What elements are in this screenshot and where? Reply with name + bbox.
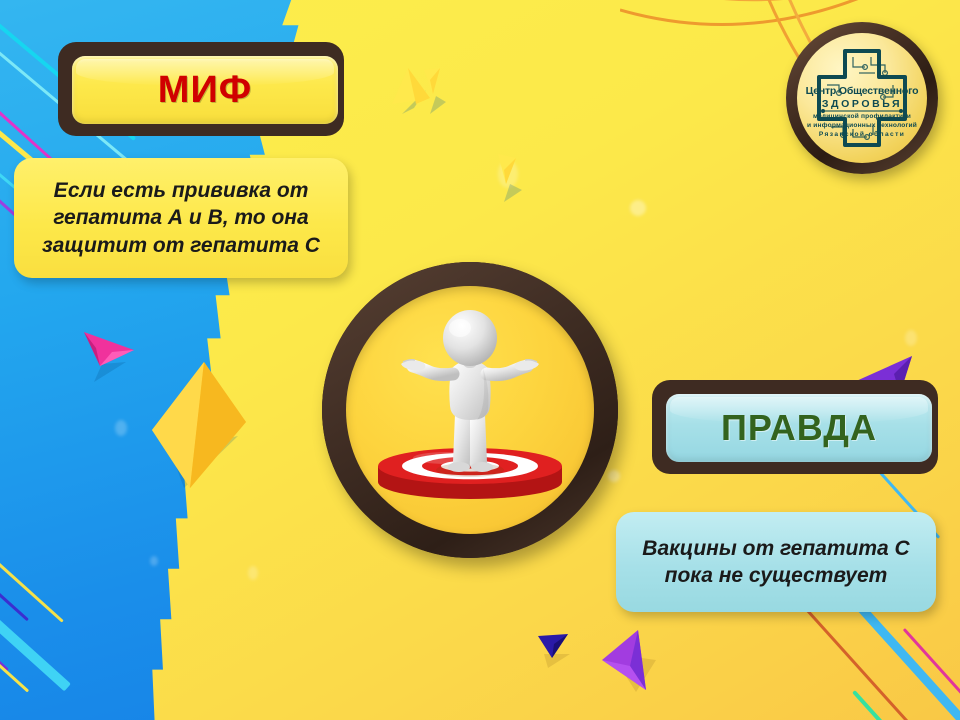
logo-line-5: Рязанской области (797, 131, 927, 138)
decor-dot (608, 470, 620, 482)
decor-triangle-yellow (420, 62, 454, 120)
decor-triangle-purple (596, 622, 676, 702)
shrugging-figure-icon (395, 310, 545, 478)
logo-line-2: ЗДОРОВЬЯ (797, 98, 927, 110)
truth-text-bubble: Вакцины от гепатита С пока не существует (616, 512, 936, 612)
decor-dot (150, 556, 158, 566)
myth-text-bubble: Если есть прививка от гепатита А и В, то… (14, 158, 348, 278)
decor-diamond-yellow (142, 358, 252, 496)
plaque-face: МИФ (72, 56, 338, 124)
plaque-face: ПРАВДА (666, 394, 932, 462)
logo-line-4: и информационных технологий (797, 122, 927, 129)
organization-logo-badge: Центр Общественного ЗДОРОВЬЯ медицинской… (786, 22, 938, 174)
truth-heading-label: ПРАВДА (721, 410, 877, 446)
decor-dot (248, 566, 258, 580)
slide-canvas: МИФ Если есть прививка от гепатита А и В… (0, 0, 960, 720)
decor-triangle-yellow (492, 148, 532, 208)
truth-heading-plaque: ПРАВДА (652, 380, 938, 474)
logo-line-3: медицинской профилактики (797, 113, 927, 120)
medallion-inner-disc (346, 286, 594, 534)
logo-inner-disc: Центр Общественного ЗДОРОВЬЯ медицинской… (797, 33, 927, 163)
decor-triangle-darkblue (534, 628, 584, 674)
decor-dot (115, 420, 127, 436)
myth-heading-plaque: МИФ (58, 42, 344, 136)
central-medallion (322, 262, 618, 558)
myth-heading-label: МИФ (158, 71, 252, 109)
decor-dot (630, 200, 646, 216)
decor-dot (905, 330, 917, 346)
logo-line-1: Центр Общественного (797, 85, 927, 97)
